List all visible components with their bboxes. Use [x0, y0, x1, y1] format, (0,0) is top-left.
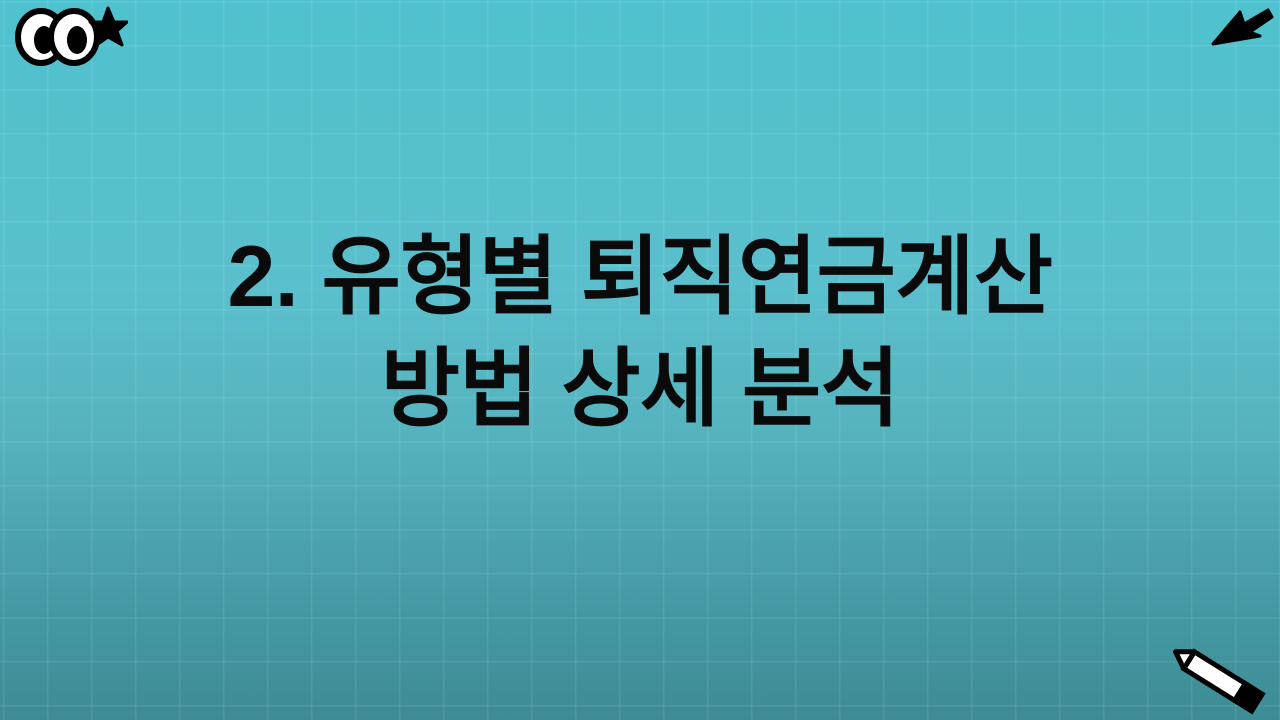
- eyes-star-doodle: [8, 2, 128, 70]
- star-icon: [90, 8, 127, 46]
- title-line-1: 2. 유형별 퇴직연금계산: [227, 222, 1052, 334]
- eyes-icon: [18, 11, 97, 63]
- arrow-icon: [1213, 10, 1272, 44]
- title-line-2: 방법 상세 분석: [381, 334, 900, 446]
- arrow-doodle: [1210, 4, 1274, 54]
- pencil-icon: [1170, 643, 1262, 711]
- slide-canvas: 2. 유형별 퇴직연금계산 방법 상세 분석: [0, 0, 1280, 720]
- pencil-doodle: [1166, 642, 1276, 716]
- page-title: 2. 유형별 퇴직연금계산 방법 상세 분석: [0, 222, 1280, 446]
